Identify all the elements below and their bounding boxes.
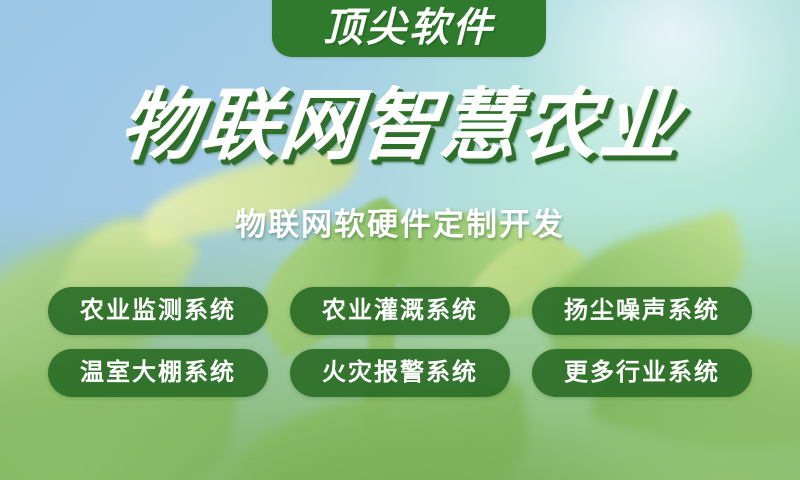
- pill-agriculture-irrigation[interactable]: 农业灌溉系统: [290, 287, 510, 335]
- pill-label: 农业监测系统: [80, 299, 236, 323]
- brand-badge: 顶尖软件: [272, 0, 546, 57]
- pill-label: 扬尘噪声系统: [564, 299, 720, 323]
- page-subtitle: 物联网软硬件定制开发: [0, 206, 800, 243]
- pill-more-industries[interactable]: 更多行业系统: [532, 349, 752, 397]
- pill-label: 温室大棚系统: [80, 361, 236, 385]
- pill-dust-noise[interactable]: 扬尘噪声系统: [532, 287, 752, 335]
- pill-agriculture-monitoring[interactable]: 农业监测系统: [48, 287, 268, 335]
- pill-label: 农业灌溉系统: [322, 299, 478, 323]
- promo-banner: 顶尖软件 物联网智慧农业 物联网软硬件定制开发 农业监测系统 农业灌溉系统 扬尘…: [0, 0, 800, 480]
- pill-label: 更多行业系统: [564, 361, 720, 385]
- pill-label: 火灾报警系统: [322, 361, 478, 385]
- brand-badge-label: 顶尖软件: [323, 8, 495, 57]
- system-pill-list: 农业监测系统 农业灌溉系统 扬尘噪声系统 温室大棚系统 火灾报警系统 更多行业系…: [48, 287, 752, 397]
- pill-greenhouse[interactable]: 温室大棚系统: [48, 349, 268, 397]
- page-title: 物联网智慧农业: [0, 86, 800, 164]
- pill-fire-alarm[interactable]: 火灾报警系统: [290, 349, 510, 397]
